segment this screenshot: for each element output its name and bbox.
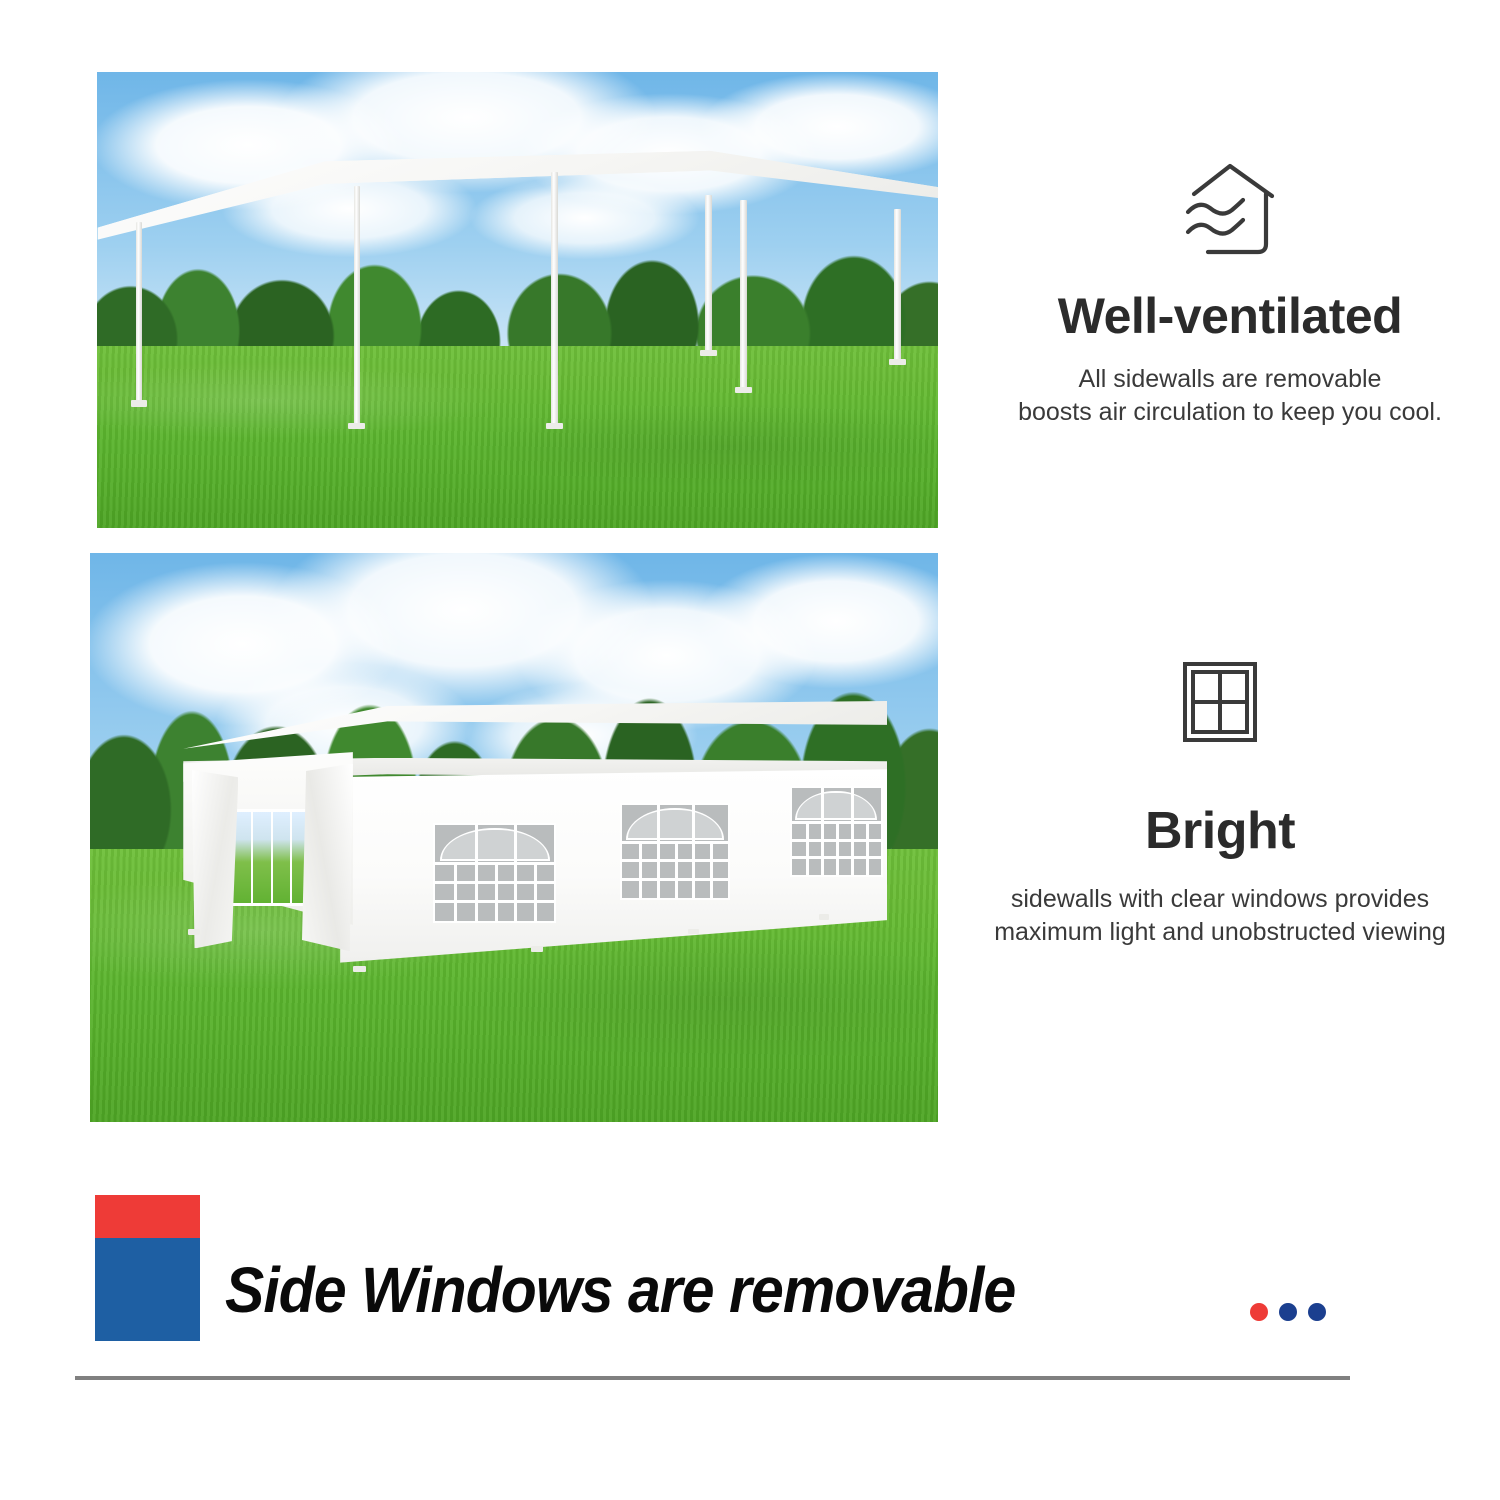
window-arch bbox=[626, 808, 724, 840]
feature-well-ventilated: Well-ventilated All sidewalls are remova… bbox=[960, 160, 1500, 429]
photo-open-canopy-gazebo bbox=[97, 72, 938, 528]
window-mullion-v bbox=[692, 805, 695, 898]
window-arch bbox=[795, 791, 877, 821]
window-mullion-v bbox=[851, 788, 854, 875]
feature-body-line: sidewalls with clear windows provides bbox=[940, 883, 1500, 916]
photo-walled-marquee-tent bbox=[90, 553, 938, 1122]
feature-body: All sidewalls are removable boosts air c… bbox=[960, 363, 1500, 429]
window-mullion-v bbox=[639, 841, 642, 899]
tent-window-2 bbox=[620, 803, 730, 900]
tent-foot-1 bbox=[353, 966, 366, 973]
tent-foot-4 bbox=[819, 914, 829, 920]
canopy-foot-front-left bbox=[131, 400, 148, 406]
decorative-dots bbox=[1250, 1303, 1326, 1321]
brand-logo-mark bbox=[95, 1195, 200, 1341]
window-mullion-v bbox=[675, 841, 678, 899]
canopy-foot-rear-right bbox=[735, 387, 752, 393]
canopy-leg-mid-center bbox=[551, 172, 558, 427]
banner-headline: Side Windows are removable bbox=[225, 1253, 1145, 1327]
feature-body-line: maximum light and unobstructed viewing bbox=[940, 916, 1500, 949]
feature-body-line: boosts air circulation to keep you cool. bbox=[960, 396, 1500, 429]
tent-window-3 bbox=[790, 786, 883, 877]
canopy-foot-mid-center bbox=[546, 423, 563, 429]
window-arch bbox=[440, 828, 549, 860]
window-mullion-v bbox=[454, 862, 457, 921]
tent-foot-5 bbox=[188, 929, 201, 936]
tent-window-1 bbox=[433, 823, 556, 923]
window-mullion-v bbox=[534, 862, 537, 921]
tent-foot-2 bbox=[531, 946, 543, 952]
canopy-leg-front-left bbox=[136, 222, 143, 404]
canopy-foot-far-right bbox=[889, 359, 906, 365]
window-icon bbox=[1179, 660, 1261, 746]
grass-field bbox=[97, 346, 938, 528]
canopy-leg-far-right bbox=[894, 209, 901, 364]
dot-1 bbox=[1250, 1303, 1268, 1321]
window-mullion-v bbox=[821, 788, 824, 875]
window-mullion-v bbox=[710, 841, 713, 899]
dot-3 bbox=[1308, 1303, 1326, 1321]
logo-blue-bar bbox=[95, 1238, 200, 1341]
house-airflow-icon bbox=[1182, 160, 1278, 264]
feature-title: Well-ventilated bbox=[960, 290, 1500, 343]
logo-red-bar bbox=[95, 1195, 200, 1238]
window-mullion-v bbox=[836, 821, 839, 875]
window-mullion-v bbox=[514, 825, 517, 921]
canopy-leg-mid-left bbox=[354, 186, 361, 428]
doorway-mullion-2 bbox=[271, 809, 273, 906]
door-curtain-right bbox=[302, 764, 353, 952]
feature-title: Bright bbox=[940, 804, 1500, 859]
window-mullion-v bbox=[657, 805, 660, 898]
feature-bright: Bright sidewalls with clear windows prov… bbox=[940, 660, 1500, 949]
window-mullion-v bbox=[806, 821, 809, 875]
banner-divider-rule bbox=[75, 1376, 1350, 1380]
door-curtain-left bbox=[192, 766, 239, 948]
window-mullion-v bbox=[495, 862, 498, 921]
window-mullion-v bbox=[866, 821, 869, 875]
window-mullion-v bbox=[475, 825, 478, 921]
canopy-leg-rear-right bbox=[740, 200, 747, 392]
feature-body: sidewalls with clear windows provides ma… bbox=[940, 883, 1500, 949]
dot-2 bbox=[1279, 1303, 1297, 1321]
feature-body-line: All sidewalls are removable bbox=[960, 363, 1500, 396]
doorway-mullion-3 bbox=[290, 809, 292, 906]
canopy-leg-rear-center bbox=[705, 195, 712, 355]
canopy-foot-mid-left bbox=[348, 423, 365, 429]
doorway-mullion-1 bbox=[251, 809, 253, 906]
canopy-foot-rear-center bbox=[700, 350, 717, 356]
tent-foot-3 bbox=[688, 929, 699, 935]
product-feature-page: Well-ventilated All sidewalls are remova… bbox=[0, 0, 1500, 1500]
